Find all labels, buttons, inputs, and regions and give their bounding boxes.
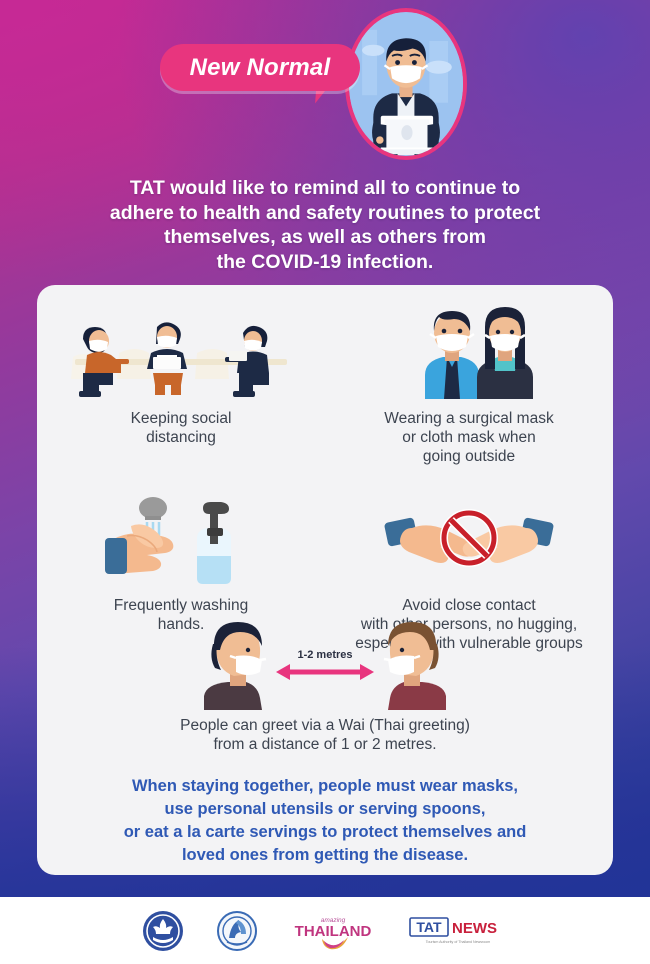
tip-social-distancing: Keeping social distancing <box>37 299 325 466</box>
header: New Normal <box>0 0 650 172</box>
distance-measure-label: 1-2 metres <box>297 649 352 661</box>
closing-line: When staying together, people must wear … <box>37 775 613 798</box>
intro-line-3: themselves, as well as others from <box>30 225 620 250</box>
tat-news-news-text: NEWS <box>452 920 497 937</box>
new-normal-badge: New Normal <box>160 44 360 91</box>
tip-label-wearing-mask: Wearing a surgical mask or cloth mask wh… <box>384 409 553 466</box>
distance-caption: People can greet via a Wai (Thai greetin… <box>180 716 470 754</box>
tip-label-line: Wearing a surgical mask <box>384 409 553 428</box>
tat-circular-logo <box>216 910 258 952</box>
new-normal-label: New Normal <box>160 44 360 91</box>
intro-paragraph: TAT would like to remind all to continue… <box>30 176 620 274</box>
tat-news-logo: TAT NEWS Tourism Authority of Thailand N… <box>408 911 508 951</box>
closing-line: loved ones from getting the disease. <box>37 844 613 867</box>
closing-line: use personal utensils or serving spoons, <box>37 798 613 821</box>
tat-news-tagline: Tourism Authority of Thailand Newsroom <box>426 940 490 944</box>
intro-line-1: TAT would like to remind all to continue… <box>30 176 620 201</box>
infographic-poster: New Normal TAT would like to remind all … <box>0 0 650 964</box>
tip-label-line: distancing <box>131 428 232 447</box>
distance-caption-line: People can greet via a Wai (Thai greetin… <box>180 716 470 735</box>
amazing-thailand-logo: amazing THAILAND <box>290 911 376 951</box>
closing-paragraph: When staying together, people must wear … <box>37 775 613 867</box>
tip-label-social-distancing: Keeping social distancing <box>131 409 232 447</box>
no-handshake-icon <box>384 486 554 586</box>
amazing-thailand-wordmark: THAILAND <box>295 923 372 940</box>
footer-logos: amazing THAILAND TAT NEWS Tourism Author… <box>0 897 650 964</box>
tip-label-line: going outside <box>384 447 553 466</box>
tat-news-tat-text: TAT <box>416 919 442 935</box>
masked-couple-icon <box>399 299 539 399</box>
tip-label-line: Keeping social <box>131 409 232 428</box>
ministry-emblem-logo <box>142 910 184 952</box>
social-distancing-meeting-icon <box>61 299 301 399</box>
tips-row-1: Keeping social distancing <box>37 299 613 466</box>
distance-block: 1-2 metres People can greet via a Wai (T… <box>37 610 613 754</box>
closing-line: or eat a la carte servings to protect th… <box>37 821 613 844</box>
guidelines-card: Keeping social distancing <box>37 285 613 875</box>
distance-caption-line: from a distance of 1 or 2 metres. <box>180 735 470 754</box>
intro-line-2: adhere to health and safety routines to … <box>30 201 620 226</box>
tips-grid: Keeping social distancing <box>37 299 613 653</box>
hand-washing-soap-icon <box>101 486 261 586</box>
tip-label-line: or cloth mask when <box>384 428 553 447</box>
two-masked-people-distance-icon: 1-2 metres <box>180 610 470 710</box>
masked-man-with-laptop-icon <box>345 8 467 160</box>
tip-wearing-mask: Wearing a surgical mask or cloth mask wh… <box>325 299 613 466</box>
intro-line-4: the COVID-19 infection. <box>30 250 620 275</box>
